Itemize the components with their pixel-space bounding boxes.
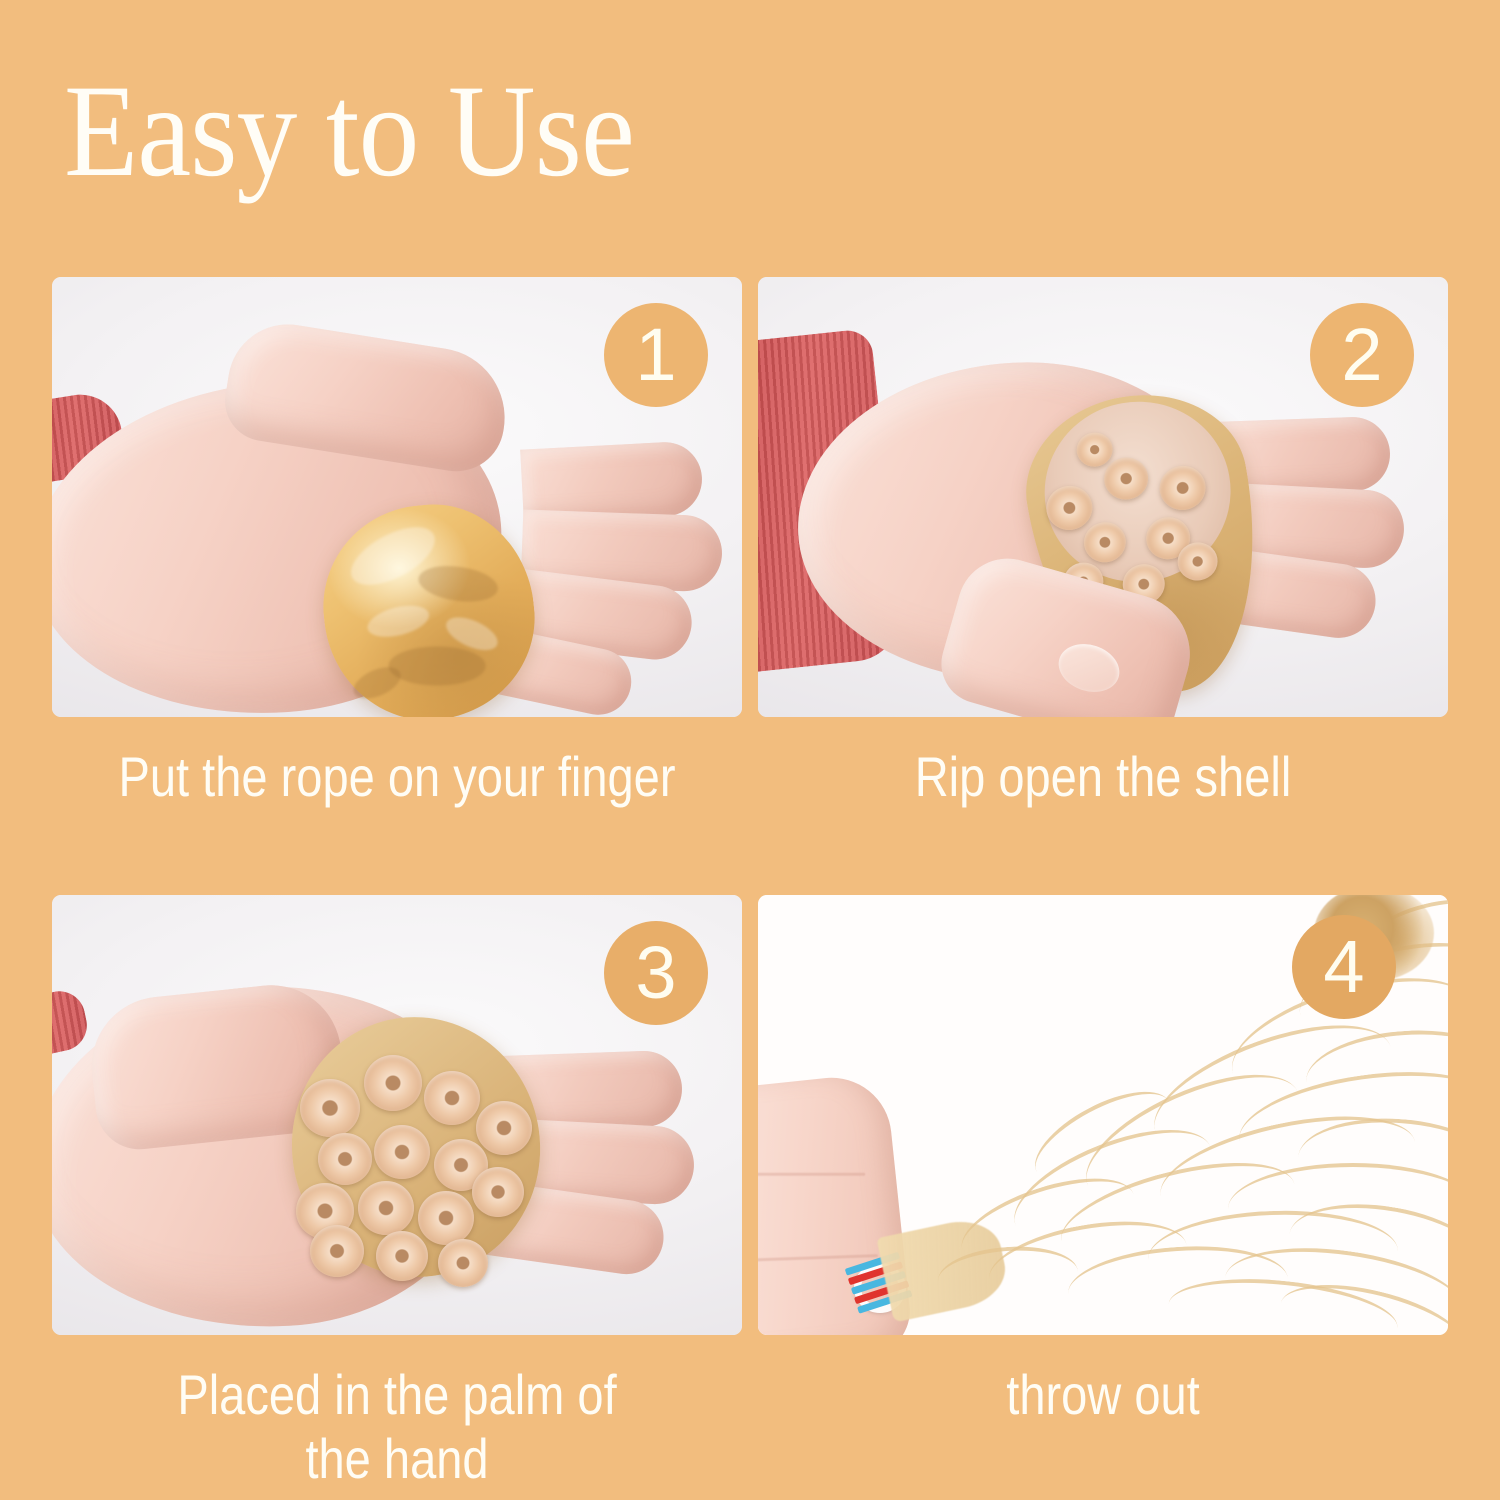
step-card-4: 4 throw out: [758, 895, 1448, 1427]
step-caption-4: throw out: [813, 1363, 1393, 1427]
step-card-1: 1 Put the rope on your finger: [52, 277, 742, 809]
step-card-3: 3 Placed in the palm of the hand: [52, 895, 742, 1491]
step-number-3: 3: [635, 936, 676, 1010]
step-photo-1: 1: [52, 277, 742, 717]
step-photo-4: 4: [758, 895, 1448, 1335]
steps-grid: 1 Put the rope on your finger: [52, 277, 1448, 1499]
step-badge-4: 4: [1292, 915, 1396, 1019]
step-badge-1: 1: [604, 303, 708, 407]
step-caption-3: Placed in the palm of the hand: [107, 1363, 687, 1491]
step-number-4: 4: [1323, 930, 1364, 1004]
step-caption-2: Rip open the shell: [813, 745, 1393, 809]
page-title: Easy to Use: [64, 62, 634, 201]
step-caption-1: Put the rope on your finger: [107, 745, 687, 809]
step-number-1: 1: [635, 318, 676, 392]
step-badge-2: 2: [1310, 303, 1414, 407]
step-photo-3: 3: [52, 895, 742, 1335]
step-card-2: 2 Rip open the shell: [758, 277, 1448, 809]
step-badge-3: 3: [604, 921, 708, 1025]
step-photo-2: 2: [758, 277, 1448, 717]
step-number-2: 2: [1341, 318, 1382, 392]
